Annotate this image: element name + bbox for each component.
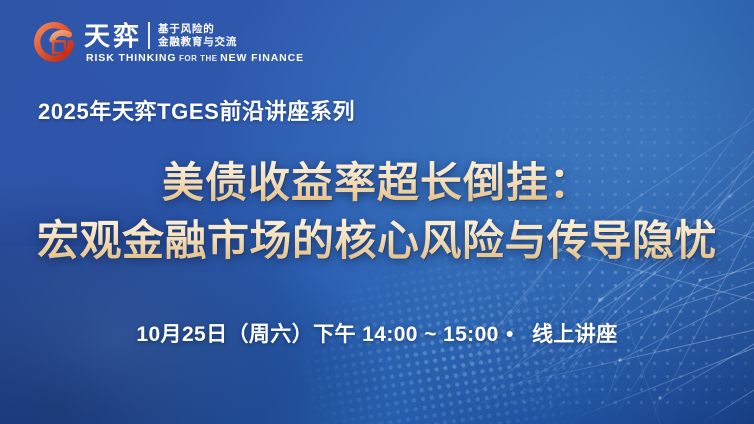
webinar-poster: 天弈 基于风险的 金融教育与交流 RISK THINKING FOR THE N… xyxy=(0,0,754,424)
poster-title: 美债收益率超长倒挂： 宏观金融市场的核心风险与传导隐忧 xyxy=(0,158,754,265)
logo-tagline-line1: 基于风险的 xyxy=(158,23,237,36)
schedule-line: 10月25日（周六）下午 14:00 ~ 15:00 • 线上讲座 xyxy=(0,318,754,348)
logo-tagline-en: RISK THINKING FOR THE NEW FINANCE xyxy=(86,52,304,64)
logo-divider xyxy=(148,22,150,49)
logo-tagline-line2: 金融教育与交流 xyxy=(158,36,237,49)
logo-tagline-en-part2: NEW FINANCE xyxy=(220,52,304,64)
schedule-venue: 线上讲座 xyxy=(532,323,618,346)
tianyi-circular-logo-icon xyxy=(33,22,75,64)
title-line-2: 宏观金融市场的核心风险与传导隐忧 xyxy=(0,216,754,266)
schedule-separator: • xyxy=(506,323,514,346)
logo-tagline-cn: 基于风险的 金融教育与交流 xyxy=(158,23,237,49)
brand-logo[interactable]: 天弈 基于风险的 金融教育与交流 RISK THINKING FOR THE N… xyxy=(33,22,304,64)
schedule-date: 10月25日（周六）下午 xyxy=(136,323,356,346)
logo-tagline-en-part1: RISK THINKING xyxy=(86,52,176,64)
series-label: 2025年天弈TGES前沿讲座系列 xyxy=(38,94,355,126)
schedule-time: 14:00 ~ 15:00 xyxy=(362,323,499,346)
logo-tagline-en-small: FOR THE xyxy=(179,54,218,63)
logo-main-row: 天弈 基于风险的 金融教育与交流 xyxy=(84,22,304,49)
brand-name-cn: 天弈 xyxy=(84,23,142,49)
logo-text-block: 天弈 基于风险的 金融教育与交流 RISK THINKING FOR THE N… xyxy=(84,22,304,64)
title-line-1: 美债收益率超长倒挂： xyxy=(0,158,754,208)
